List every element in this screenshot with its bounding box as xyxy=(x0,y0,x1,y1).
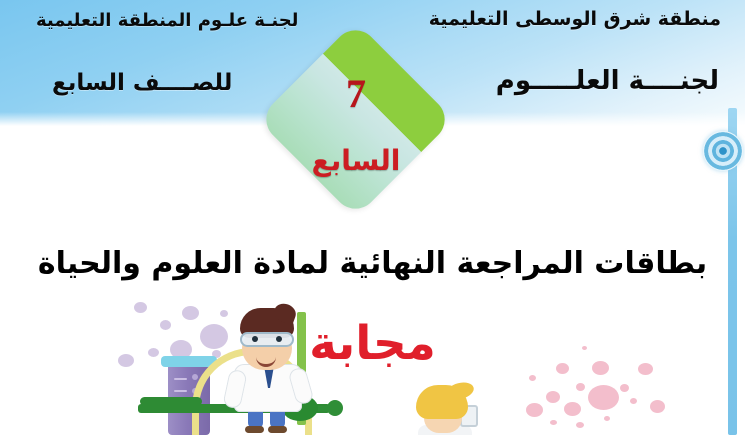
grade-badge-face: 7 السابع xyxy=(258,22,454,218)
pink-dot xyxy=(564,402,581,416)
pink-dot xyxy=(620,384,629,392)
concentric-circles-icon xyxy=(703,131,743,171)
blonde-child-figure xyxy=(410,385,486,435)
pink-dot xyxy=(650,400,665,413)
header-region-title: منطقة شرق الوسطى التعليمية xyxy=(429,8,721,30)
cylinder-graduation-mark xyxy=(174,390,187,392)
pink-dot xyxy=(546,391,560,403)
grade-badge-label: السابع xyxy=(258,144,454,177)
pink-dot xyxy=(529,375,536,381)
answered-badge-text: مجابة xyxy=(0,316,745,371)
header-science-committee: لجنــــة العلـــــوم xyxy=(496,66,719,96)
grade-badge: 7 السابع xyxy=(258,22,454,218)
pink-dot xyxy=(550,420,557,425)
cylinder-bubble-dot xyxy=(192,374,198,380)
lab-stand-small-knob xyxy=(327,400,343,416)
pink-dot xyxy=(576,383,585,391)
boy-shoe xyxy=(245,426,264,433)
cylinder-graduation-mark xyxy=(174,378,187,380)
bubble-icon xyxy=(134,302,147,313)
pink-dot xyxy=(604,416,610,421)
child-hair-sweep xyxy=(444,380,475,402)
pink-dot xyxy=(630,398,637,404)
boy-shoe xyxy=(268,426,287,433)
document-page: منطقة شرق الوسطى التعليمية لجنـة علـوم ا… xyxy=(0,0,745,435)
pink-dot xyxy=(576,422,584,428)
page-title: بطاقات المراجعة النهائية لمادة العلوم وا… xyxy=(0,246,745,281)
header-grade-line: للصــــف السابع xyxy=(52,70,232,96)
pink-dot xyxy=(588,385,619,410)
grade-badge-number: 7 xyxy=(258,70,454,117)
pink-dot xyxy=(526,403,543,417)
